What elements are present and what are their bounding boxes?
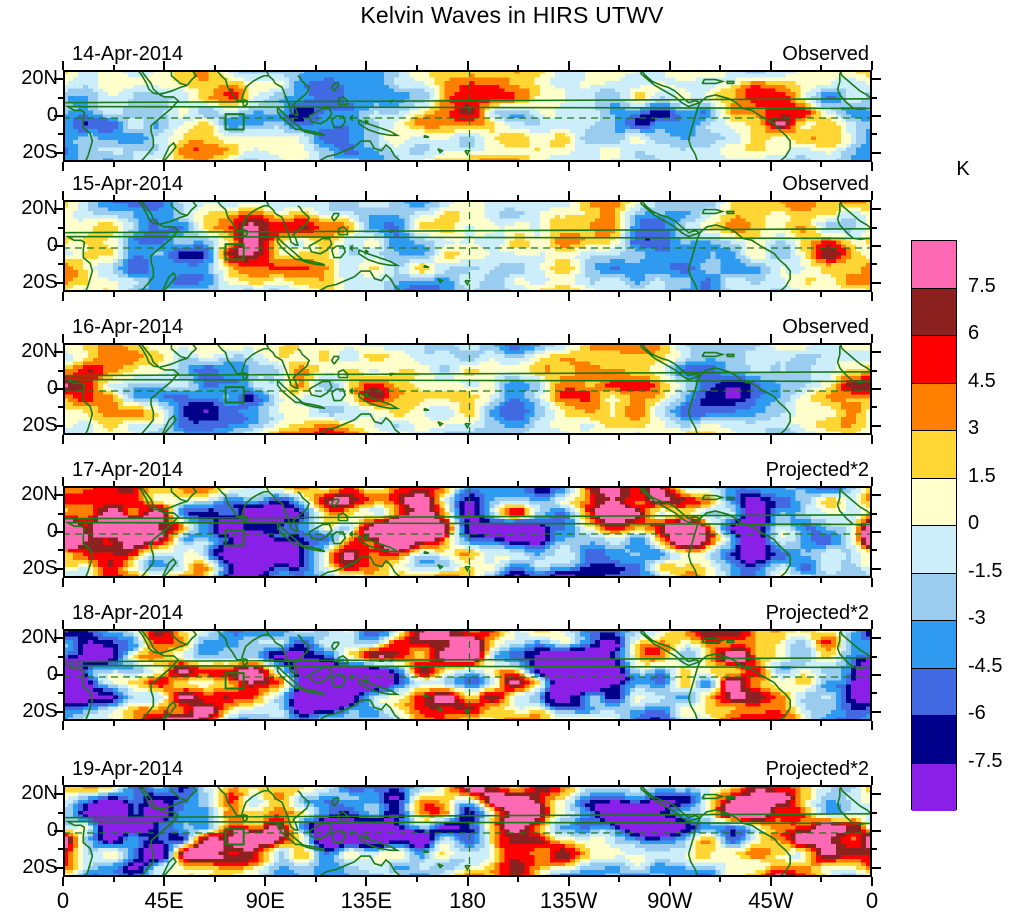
x-axis-tick	[871, 776, 873, 785]
x-axis-tick	[568, 61, 570, 70]
x-axis-tick	[669, 292, 671, 301]
x-axis-tick	[467, 620, 469, 629]
x-axis-tick	[618, 292, 620, 297]
x-axis-tick	[669, 334, 671, 343]
x-axis-tick	[820, 877, 822, 882]
x-axis-tick	[416, 877, 418, 882]
x-axis-tick	[214, 624, 216, 629]
x-axis-tick	[315, 292, 317, 297]
x-axis-tick	[517, 877, 519, 882]
y-tick-label: 0	[0, 819, 58, 842]
x-axis-tick	[163, 292, 165, 301]
figure-root: Kelvin Waves in HIRS UTWV 14-Apr-2014Obs…	[0, 0, 1024, 920]
x-axis-tick	[618, 162, 620, 167]
y-axis-tick	[58, 812, 63, 814]
x-axis-tick	[113, 877, 115, 882]
x-axis-tick	[264, 191, 266, 200]
x-axis-tick	[214, 481, 216, 486]
x-axis-tick	[62, 578, 64, 587]
x-axis-tick	[719, 780, 721, 785]
x-axis-tick	[416, 195, 418, 200]
x-axis-tick	[568, 620, 570, 629]
y-axis-tick	[872, 245, 881, 247]
y-axis-tick	[872, 406, 877, 408]
x-axis-tick	[416, 292, 418, 297]
y-axis-tick	[872, 692, 877, 694]
x-axis-tick	[315, 195, 317, 200]
x-axis-tick	[113, 624, 115, 629]
x-axis-tick	[871, 334, 873, 343]
x-axis-tick	[214, 435, 216, 440]
y-axis-tick	[872, 656, 877, 658]
x-axis-tick	[315, 780, 317, 785]
x-axis-tick	[669, 61, 671, 70]
x-axis-tick	[467, 334, 469, 343]
panel-kind-label-3: Observed	[782, 316, 869, 339]
y-axis-tick	[54, 494, 63, 496]
x-axis-tick	[467, 578, 469, 587]
x-axis-tick	[315, 162, 317, 167]
x-axis-tick	[315, 624, 317, 629]
x-axis-tick	[517, 292, 519, 297]
y-tick-label: 20N	[0, 782, 58, 805]
y-axis-tick	[58, 97, 63, 99]
x-tick-label: 45E	[119, 888, 209, 914]
x-axis-tick	[113, 481, 115, 486]
x-axis-tick	[365, 162, 367, 171]
x-axis-tick	[113, 780, 115, 785]
x-axis-tick	[214, 65, 216, 70]
x-axis-tick	[669, 162, 671, 171]
y-axis-tick	[54, 711, 63, 713]
x-axis-tick	[719, 721, 721, 726]
x-axis-tick	[618, 435, 620, 440]
x-tick-label: 0	[18, 888, 108, 914]
colorbar-tick-label: -6	[968, 702, 1024, 725]
x-axis-tick	[214, 877, 216, 882]
x-axis-tick	[416, 780, 418, 785]
y-axis-tick	[872, 208, 881, 210]
y-axis-tick	[872, 830, 881, 832]
x-axis-tick	[517, 435, 519, 440]
y-tick-label: 20S	[0, 414, 58, 437]
y-tick-label: 0	[0, 520, 58, 543]
x-axis-tick	[517, 195, 519, 200]
y-axis-tick	[54, 637, 63, 639]
panel-date-label-5: 18-Apr-2014	[72, 602, 183, 625]
y-axis-tick	[872, 97, 877, 99]
x-axis-tick	[163, 477, 165, 486]
colorbar-tick-label: 6	[968, 322, 1024, 345]
x-axis-tick	[416, 721, 418, 726]
x-axis-tick	[871, 61, 873, 70]
x-axis-tick	[113, 195, 115, 200]
y-axis-tick	[54, 115, 63, 117]
x-axis-tick	[315, 877, 317, 882]
y-axis-tick	[872, 370, 877, 372]
panel-date-label-1: 14-Apr-2014	[72, 43, 183, 66]
map-panel-6	[63, 785, 872, 877]
x-axis-tick	[467, 191, 469, 200]
y-axis-tick	[872, 531, 881, 533]
x-axis-tick	[315, 338, 317, 343]
x-axis-tick	[163, 721, 165, 730]
x-axis-tick	[264, 292, 266, 301]
x-axis-tick	[315, 435, 317, 440]
x-axis-tick	[416, 162, 418, 167]
y-tick-label: 0	[0, 663, 58, 686]
x-axis-tick	[770, 162, 772, 171]
x-axis-tick	[820, 338, 822, 343]
y-axis-tick	[872, 549, 877, 551]
y-axis-tick	[872, 494, 881, 496]
x-axis-tick	[315, 721, 317, 726]
y-axis-tick	[58, 263, 63, 265]
x-axis-tick	[719, 624, 721, 629]
x-axis-tick	[820, 435, 822, 440]
y-tick-label: 20N	[0, 67, 58, 90]
x-axis-tick	[568, 292, 570, 301]
x-axis-tick	[871, 435, 873, 444]
x-axis-tick	[820, 292, 822, 297]
x-axis-tick	[214, 578, 216, 583]
x-axis-tick	[315, 481, 317, 486]
x-axis-tick	[719, 292, 721, 297]
x-axis-tick	[820, 578, 822, 583]
y-axis-tick	[54, 351, 63, 353]
x-axis-tick	[264, 162, 266, 171]
x-axis-tick	[365, 292, 367, 301]
y-axis-tick	[872, 425, 881, 427]
panel-kind-label-4: Projected*2	[766, 459, 869, 482]
x-axis-tick	[820, 65, 822, 70]
y-axis-tick	[58, 133, 63, 135]
x-axis-tick	[214, 292, 216, 297]
x-axis-tick	[669, 578, 671, 587]
x-axis-tick	[568, 191, 570, 200]
colorbar-tick-label: 3	[968, 417, 1024, 440]
y-axis-tick	[54, 531, 63, 533]
panel-kind-label-6: Projected*2	[766, 758, 869, 781]
y-axis-tick	[872, 637, 881, 639]
x-axis-tick	[871, 578, 873, 587]
x-axis-tick	[770, 191, 772, 200]
y-axis-tick	[54, 830, 63, 832]
x-axis-tick	[264, 620, 266, 629]
y-axis-tick	[54, 208, 63, 210]
x-axis-tick	[62, 191, 64, 200]
x-axis-tick	[871, 877, 873, 886]
x-axis-tick	[820, 162, 822, 167]
x-axis-tick	[416, 578, 418, 583]
x-axis-tick	[517, 65, 519, 70]
x-tick-label: 90W	[625, 888, 715, 914]
x-axis-tick	[719, 435, 721, 440]
x-axis-tick	[568, 334, 570, 343]
x-axis-tick	[315, 65, 317, 70]
y-axis-tick	[58, 848, 63, 850]
x-axis-tick	[568, 162, 570, 171]
y-axis-tick	[872, 133, 877, 135]
x-axis-tick	[62, 721, 64, 730]
x-axis-tick	[62, 877, 64, 886]
x-axis-tick	[719, 578, 721, 583]
x-axis-tick	[568, 877, 570, 886]
x-tick-label: 45W	[726, 888, 816, 914]
panel-kind-label-1: Observed	[782, 43, 869, 66]
x-axis-tick	[365, 620, 367, 629]
x-axis-tick	[568, 776, 570, 785]
x-axis-tick	[365, 721, 367, 730]
y-axis-tick	[58, 227, 63, 229]
x-axis-tick	[517, 624, 519, 629]
y-tick-label: 20S	[0, 271, 58, 294]
x-axis-tick	[467, 721, 469, 730]
y-tick-label: 20N	[0, 197, 58, 220]
y-axis-tick	[872, 78, 881, 80]
x-axis-tick	[365, 776, 367, 785]
x-axis-tick	[113, 578, 115, 583]
x-axis-tick	[719, 162, 721, 167]
x-axis-tick	[264, 435, 266, 444]
y-tick-label: 0	[0, 234, 58, 257]
x-axis-tick	[871, 477, 873, 486]
x-axis-tick	[365, 477, 367, 486]
x-axis-tick	[871, 721, 873, 730]
map-panel-2	[63, 200, 872, 292]
y-tick-label: 20S	[0, 557, 58, 580]
x-axis-tick	[820, 195, 822, 200]
x-axis-tick	[62, 776, 64, 785]
map-panel-1	[63, 70, 872, 162]
colorbar-segment-6	[912, 526, 956, 574]
x-axis-tick	[163, 578, 165, 587]
x-axis-tick	[820, 481, 822, 486]
colorbar-tick-label: -7.5	[968, 750, 1024, 773]
x-axis-tick	[618, 65, 620, 70]
panel-kind-label-2: Observed	[782, 173, 869, 196]
x-axis-tick	[467, 162, 469, 171]
x-axis-tick	[365, 191, 367, 200]
x-axis-tick	[365, 61, 367, 70]
x-axis-tick	[416, 338, 418, 343]
x-axis-tick	[163, 877, 165, 886]
x-axis-tick	[467, 435, 469, 444]
y-tick-label: 20S	[0, 856, 58, 879]
y-axis-tick	[54, 793, 63, 795]
y-axis-tick	[872, 263, 877, 265]
x-axis-tick	[770, 620, 772, 629]
x-axis-tick	[214, 338, 216, 343]
colorbar-tick-label: 0	[968, 512, 1024, 535]
x-axis-tick	[770, 292, 772, 301]
colorbar-segment-9	[912, 669, 956, 717]
x-axis-tick	[416, 65, 418, 70]
y-axis-tick	[58, 370, 63, 372]
y-axis-tick	[872, 513, 877, 515]
y-axis-tick	[872, 568, 881, 570]
colorbar-segment-2	[912, 336, 956, 384]
panel-date-label-3: 16-Apr-2014	[72, 316, 183, 339]
x-axis-tick	[467, 877, 469, 886]
colorbar-segment-11	[912, 764, 956, 812]
y-axis-tick	[54, 425, 63, 427]
y-axis-tick	[58, 406, 63, 408]
x-tick-label: 180	[423, 888, 513, 914]
x-axis-tick	[820, 624, 822, 629]
x-axis-tick	[517, 721, 519, 726]
x-axis-tick	[719, 338, 721, 343]
colorbar-segment-4	[912, 431, 956, 479]
x-axis-tick	[416, 435, 418, 440]
x-axis-tick	[163, 435, 165, 444]
y-tick-label: 20N	[0, 340, 58, 363]
x-axis-tick	[719, 65, 721, 70]
y-axis-tick	[54, 867, 63, 869]
x-axis-tick	[113, 292, 115, 297]
x-axis-tick	[517, 780, 519, 785]
colorbar-segment-1	[912, 289, 956, 337]
x-axis-tick	[770, 578, 772, 587]
panel-kind-label-5: Projected*2	[766, 602, 869, 625]
y-axis-tick	[872, 812, 877, 814]
colorbar-segment-8	[912, 621, 956, 669]
y-axis-tick	[872, 674, 881, 676]
x-axis-tick	[618, 481, 620, 486]
x-axis-tick	[467, 776, 469, 785]
y-tick-label: 20S	[0, 700, 58, 723]
panel-date-label-6: 19-Apr-2014	[72, 758, 183, 781]
x-axis-tick	[517, 481, 519, 486]
y-axis-tick	[54, 152, 63, 154]
panel-date-label-4: 17-Apr-2014	[72, 459, 183, 482]
x-axis-tick	[568, 721, 570, 730]
colorbar-tick-label: 7.5	[968, 275, 1024, 298]
map-panel-5	[63, 629, 872, 721]
x-axis-tick	[871, 620, 873, 629]
x-axis-tick	[416, 624, 418, 629]
y-axis-tick	[872, 711, 881, 713]
y-axis-tick	[54, 568, 63, 570]
x-axis-tick	[770, 721, 772, 730]
y-tick-label: 20N	[0, 626, 58, 649]
x-axis-tick	[669, 435, 671, 444]
x-axis-tick	[770, 61, 772, 70]
x-axis-tick	[163, 620, 165, 629]
x-axis-tick	[770, 334, 772, 343]
x-axis-tick	[62, 477, 64, 486]
x-axis-tick	[264, 578, 266, 587]
x-axis-tick	[770, 877, 772, 886]
x-axis-tick	[568, 578, 570, 587]
x-axis-tick	[62, 61, 64, 70]
x-axis-tick	[163, 334, 165, 343]
x-axis-tick	[467, 292, 469, 301]
x-axis-tick	[113, 435, 115, 440]
x-axis-tick	[820, 721, 822, 726]
x-axis-tick	[568, 477, 570, 486]
y-axis-tick	[54, 245, 63, 247]
colorbar-tick-label: 4.5	[968, 370, 1024, 393]
y-axis-tick	[58, 656, 63, 658]
x-axis-tick	[719, 481, 721, 486]
x-axis-tick	[365, 578, 367, 587]
x-axis-tick	[365, 334, 367, 343]
x-axis-tick	[820, 780, 822, 785]
x-axis-tick	[264, 477, 266, 486]
x-axis-tick	[62, 620, 64, 629]
x-axis-tick	[669, 877, 671, 886]
x-axis-tick	[163, 61, 165, 70]
x-axis-tick	[214, 162, 216, 167]
x-axis-tick	[517, 338, 519, 343]
x-axis-tick	[113, 338, 115, 343]
x-axis-tick	[770, 435, 772, 444]
x-axis-tick	[365, 435, 367, 444]
x-axis-tick	[62, 292, 64, 301]
x-tick-label: 90E	[220, 888, 310, 914]
y-axis-tick	[58, 513, 63, 515]
page-title: Kelvin Waves in HIRS UTWV	[0, 2, 1024, 29]
colorbar-tick-label: 1.5	[968, 465, 1024, 488]
colorbar-segment-3	[912, 384, 956, 432]
x-axis-tick	[719, 877, 721, 882]
colorbar-tick-label: -3	[968, 607, 1024, 630]
y-tick-label: 20S	[0, 141, 58, 164]
x-axis-tick	[618, 780, 620, 785]
x-axis-tick	[163, 191, 165, 200]
x-tick-label: 135W	[524, 888, 614, 914]
x-axis-tick	[163, 162, 165, 171]
x-axis-tick	[264, 334, 266, 343]
colorbar-segment-7	[912, 574, 956, 622]
x-axis-tick	[365, 877, 367, 886]
colorbar-segment-10	[912, 716, 956, 764]
x-axis-tick	[62, 162, 64, 171]
x-axis-tick	[113, 162, 115, 167]
y-axis-tick	[54, 282, 63, 284]
x-axis-tick	[770, 776, 772, 785]
y-tick-label: 0	[0, 377, 58, 400]
x-axis-tick	[264, 721, 266, 730]
x-axis-tick	[517, 578, 519, 583]
x-axis-tick	[669, 776, 671, 785]
colorbar	[911, 240, 957, 810]
x-axis-tick	[467, 61, 469, 70]
x-axis-tick	[568, 435, 570, 444]
y-tick-label: 20N	[0, 483, 58, 506]
y-axis-tick	[872, 388, 881, 390]
panel-date-label-2: 15-Apr-2014	[72, 173, 183, 196]
x-axis-tick	[669, 191, 671, 200]
x-axis-tick	[618, 721, 620, 726]
colorbar-segment-5	[912, 479, 956, 527]
y-axis-tick	[872, 848, 877, 850]
y-axis-tick	[58, 692, 63, 694]
x-axis-tick	[871, 162, 873, 171]
x-tick-label: 135E	[321, 888, 411, 914]
x-axis-tick	[264, 61, 266, 70]
x-axis-tick	[770, 477, 772, 486]
y-axis-tick	[54, 674, 63, 676]
colorbar-tick-label: -4.5	[968, 655, 1024, 678]
y-axis-tick	[872, 867, 881, 869]
x-axis-tick	[214, 195, 216, 200]
x-axis-tick	[264, 776, 266, 785]
x-axis-tick	[467, 477, 469, 486]
y-axis-tick	[54, 388, 63, 390]
colorbar-unit-label: K	[940, 158, 986, 181]
